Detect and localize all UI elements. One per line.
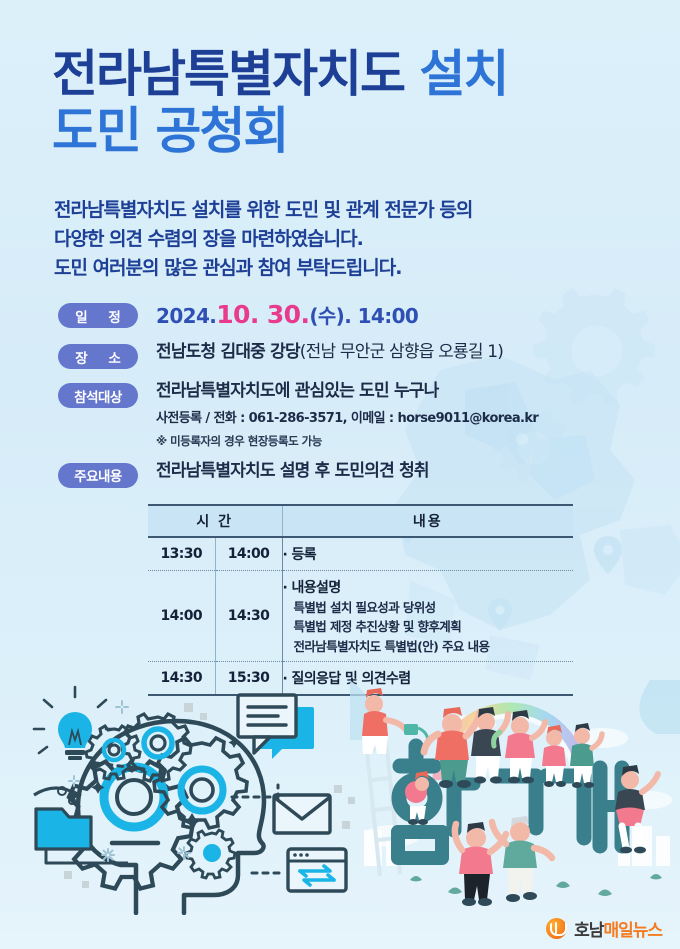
info-list: 일 정 2024.10. 30.(수). 14:00 장 소 전남도청 김대중 … — [58, 300, 648, 499]
together-typography-illustration — [350, 680, 680, 915]
logo-name-part1: 호남 — [574, 921, 603, 941]
footer-logo: 호남매일뉴스 — [546, 915, 662, 941]
title-line-1: 전라남특별자치도 설치 — [52, 48, 632, 101]
info-body-audience: 전라남특별자치도에 관심있는 도민 누구나 사전등록 / 전화 : 061-28… — [156, 380, 648, 449]
browser-exchange-icon — [288, 849, 346, 891]
info-body-schedule: 2024.10. 30.(수). 14:00 — [156, 300, 648, 330]
row-time-from: 13:30 — [148, 537, 215, 571]
event-venue: 전남도청 김대중 강당 — [156, 342, 300, 362]
content-description: 전라남특별자치도 설명 후 도민의견 청취 — [156, 460, 648, 482]
subtitle-line-1: 전라남특별자치도 설치를 위한 도민 및 관계 전문가 등의 — [54, 196, 634, 225]
schedule-table-head: 시 간 내용 — [148, 505, 573, 537]
registration-note: ※ 미등록자의 경우 현장등록도 가능 — [156, 433, 648, 449]
bottom-illustration — [0, 665, 680, 915]
row-content-detail: 특별법 제정 추진상황 및 향후계획 — [294, 618, 574, 635]
title-line-2: 도민 공청회 — [52, 105, 632, 158]
title-part-region: 전라남특별자치도 — [52, 45, 404, 103]
info-body-content: 전라남특별자치도 설명 후 도민의견 청취 — [156, 460, 648, 482]
badge-place: 장 소 — [58, 344, 138, 369]
envelope-icon — [274, 795, 330, 833]
row-content-title: · 내용설명 — [283, 580, 341, 596]
schedule-header-row: 시 간 내용 — [148, 505, 573, 537]
chat-bubble-icon — [238, 695, 314, 759]
row-content-title: · 등록 — [283, 547, 317, 563]
logo-name-part2: 매일뉴스 — [603, 921, 662, 941]
event-address: (전남 무안군 삼향읍 오룡길 1) — [300, 342, 503, 362]
poster-canvas: 전라남특별자치도 설치 도민 공청회 전라남특별자치도 설치를 위한 도민 및 … — [0, 0, 680, 949]
row-content-detail: 전라남특별자치도 특별법(안) 주요 내용 — [294, 638, 574, 655]
gear-tiny-right-icon — [186, 830, 235, 878]
title-part-action: 설치 — [419, 45, 507, 103]
event-datetime: 2024.10. 30.(수). 14:00 — [156, 300, 648, 330]
info-row-content: 주요내용 전라남특별자치도 설명 후 도민의견 청취 — [58, 460, 648, 488]
row-content: · 등록 — [282, 537, 573, 571]
row-time-from: 14:00 — [148, 571, 215, 662]
info-row-place: 장 소 전남도청 김대중 강당(전남 무안군 삼향읍 오룡길 1) — [58, 341, 648, 369]
row-time-to: 14:00 — [215, 537, 282, 571]
table-row: 13:30 14:00 · 등록 — [148, 537, 573, 571]
subtitle-line-2: 다양한 의견 수렴의 장을 마련하였습니다. — [54, 225, 634, 254]
badge-audience: 참석대상 — [58, 383, 138, 408]
poster-title: 전라남특별자치도 설치 도민 공청회 — [52, 48, 632, 158]
row-content: · 내용설명 특별법 설치 필요성과 당위성 특별법 제정 추진상황 및 향후계… — [282, 571, 573, 662]
audience-description: 전라남특별자치도에 관심있는 도민 누구나 — [156, 380, 648, 403]
info-row-audience: 참석대상 전라남특별자치도에 관심있는 도민 누구나 사전등록 / 전화 : 0… — [58, 380, 648, 449]
subtitle-line-3: 도민 여러분의 많은 관심과 참여 부탁드립니다. — [54, 254, 634, 283]
table-row: 14:00 14:30 · 내용설명 특별법 설치 필요성과 당위성 특별법 제… — [148, 571, 573, 662]
column-header-content: 내용 — [282, 505, 573, 537]
ground-sprouts — [410, 874, 662, 896]
info-row-schedule: 일 정 2024.10. 30.(수). 14:00 — [58, 300, 648, 330]
poster-subtitle: 전라남특별자치도 설치를 위한 도민 및 관계 전문가 등의 다양한 의견 수렴… — [54, 196, 634, 283]
event-year: 2024. — [156, 304, 216, 328]
badge-schedule: 일 정 — [58, 303, 138, 328]
footer-logo-text: 호남매일뉴스 — [574, 916, 662, 941]
row-content-detail: 특별법 설치 필요성과 당위성 — [294, 599, 574, 616]
registration-contact: 사전등록 / 전화 : 061-286-3571, 이메일 : horse901… — [156, 410, 648, 429]
honam-news-logo-icon — [546, 918, 567, 939]
subtitle-line-1-rest: 를 위한 도민 및 관계 전문가 등의 — [224, 199, 472, 221]
event-venue-line: 전남도청 김대중 강당(전남 무안군 삼향읍 오룡길 1) — [156, 341, 648, 363]
row-time-to: 14:30 — [215, 571, 282, 662]
badge-content: 주요내용 — [58, 463, 138, 488]
event-day-time: (수). 14:00 — [309, 304, 418, 328]
subtitle-emphasis: 전라남특별자치도 설치 — [54, 199, 224, 221]
info-body-place: 전남도청 김대중 강당(전남 무안군 삼향읍 오룡길 1) — [156, 341, 648, 363]
column-header-time: 시 간 — [148, 505, 282, 537]
event-date: 10. 30. — [216, 300, 309, 329]
head-with-gears-illustration — [16, 685, 366, 915]
